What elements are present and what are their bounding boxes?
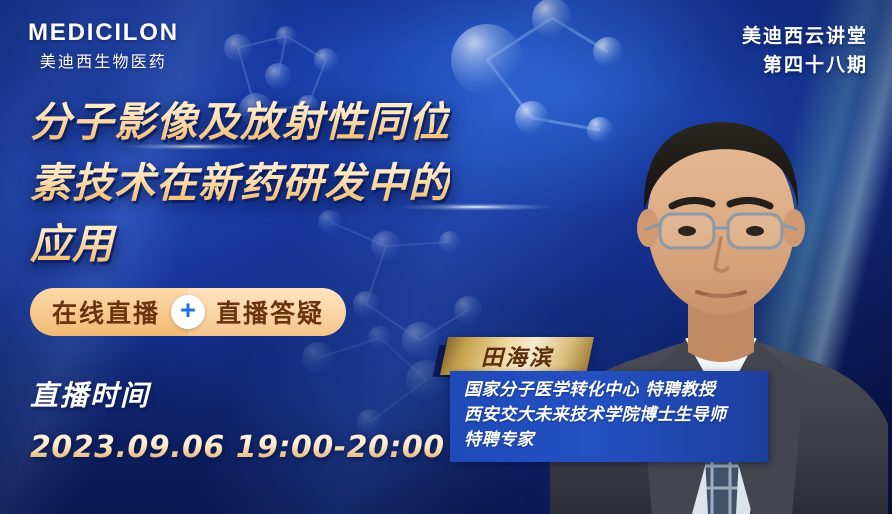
title-line-1: 分子影像及放射性同位 bbox=[30, 92, 450, 153]
speaker-name: 田海滨 bbox=[481, 340, 553, 372]
brand-logo: MEDICILON 美迪西生物医药 bbox=[28, 20, 179, 72]
badge-live-qa[interactable]: 直播答疑 bbox=[188, 288, 346, 336]
schedule-block: 直播时间 2023.09.06 19:00-20:00 bbox=[30, 374, 445, 465]
schedule-value: 2023.09.06 19:00-20:00 bbox=[30, 430, 445, 465]
speaker-nameplate: 田海滨 bbox=[440, 337, 594, 375]
format-badges: 在线直播 + 直播答疑 bbox=[30, 288, 346, 336]
badge-live-stream[interactable]: 在线直播 bbox=[30, 288, 188, 336]
title-line-2: 素技术在新药研发中的 bbox=[30, 153, 450, 214]
brand-logo-en: MEDICILON bbox=[28, 20, 179, 45]
series-episode: 第四十八期 bbox=[742, 51, 868, 80]
speaker-credential-3: 特聘专家 bbox=[464, 428, 754, 453]
speaker-credentials: 国家分子医学转化中心 特聘教授 西安交大未来技术学院博士生导师 特聘专家 bbox=[450, 371, 768, 462]
series-name: 美迪西云讲堂 bbox=[742, 22, 868, 51]
speaker-credential-2: 西安交大未来技术学院博士生导师 bbox=[464, 403, 754, 428]
schedule-label: 直播时间 bbox=[30, 374, 445, 414]
speaker-credential-1: 国家分子医学转化中心 特聘教授 bbox=[464, 378, 754, 403]
plus-icon-glyph: + bbox=[180, 297, 196, 324]
title-line-3: 应用 bbox=[30, 214, 450, 275]
plus-icon: + bbox=[171, 295, 205, 329]
webinar-poster: MEDICILON 美迪西生物医药 美迪西云讲堂 第四十八期 分子影像及放射性同… bbox=[0, 0, 892, 514]
page-title: 分子影像及放射性同位 素技术在新药研发中的 应用 bbox=[30, 92, 450, 275]
brand-logo-cn: 美迪西生物医药 bbox=[28, 48, 179, 72]
series-label: 美迪西云讲堂 第四十八期 bbox=[742, 22, 868, 79]
